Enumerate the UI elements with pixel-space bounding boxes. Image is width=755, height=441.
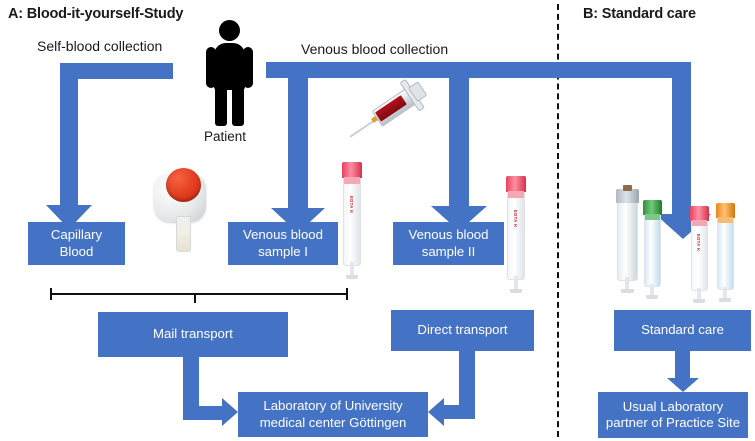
arrow-standard-to-usual-lab-head	[667, 378, 699, 392]
arrow-standard-to-usual-lab-stem	[675, 351, 690, 380]
capillary-collection-device-icon	[148, 166, 218, 252]
box-usual-laboratory-partner-line1: Usual Laboratory	[606, 399, 740, 416]
box-laboratory-umg[interactable]: Laboratory of University medical center …	[238, 392, 428, 437]
patient-icon	[203, 20, 255, 126]
arrow-venous-collection-horizontal	[266, 62, 690, 78]
edta-tube-1-label: EDTA K	[349, 196, 354, 214]
edta-tube-2-label: EDTA K	[513, 210, 518, 228]
box-laboratory-umg-line2: medical center Göttingen	[260, 415, 407, 432]
standard-care-tube-red-icon: EDTA K	[691, 206, 708, 302]
box-mail-transport-label: Mail transport	[153, 326, 233, 343]
box-venous-blood-sample-1[interactable]: Venous blood sample I	[228, 222, 338, 265]
panel-b-title: B: Standard care	[583, 6, 696, 22]
box-capillary-blood-line1: Capillary	[51, 227, 102, 244]
standard-care-tube-green-icon	[644, 200, 661, 300]
arrow-self-collection-stem	[60, 63, 78, 211]
standard-care-tube-grey-icon	[617, 189, 638, 297]
box-laboratory-umg-line1: Laboratory of University	[260, 398, 407, 415]
box-standard-care[interactable]: Standard care	[614, 310, 751, 351]
edta-tube-1-icon: EDTA K	[343, 162, 361, 282]
label-venous-blood-collection: Venous blood collection	[301, 41, 448, 57]
box-mail-transport[interactable]: Mail transport	[98, 312, 288, 357]
label-patient: Patient	[204, 129, 246, 144]
box-standard-care-label: Standard care	[641, 322, 724, 339]
box-usual-laboratory-partner-line2: partner of Practice Site	[606, 415, 740, 432]
box-venous-blood-sample-1-line2: sample I	[243, 244, 323, 261]
standard-care-tube-orange-icon	[717, 203, 734, 301]
arrow-venous-sample-2-stem	[449, 62, 469, 212]
label-self-blood-collection: Self-blood collection	[37, 38, 162, 54]
arrow-standard-care-stem	[672, 62, 691, 220]
arrow-mail-to-lab-horizontal	[183, 406, 223, 420]
figure-canvas: A: Blood-it-yourself-Study B: Standard c…	[0, 0, 755, 441]
box-venous-blood-sample-2-line2: sample II	[409, 244, 489, 261]
box-usual-laboratory-partner[interactable]: Usual Laboratory partner of Practice Sit…	[598, 392, 748, 438]
box-venous-blood-sample-1-line1: Venous blood	[243, 227, 323, 244]
arrow-direct-to-lab-head	[428, 398, 444, 426]
box-direct-transport[interactable]: Direct transport	[391, 310, 534, 351]
box-direct-transport-label: Direct transport	[417, 322, 507, 339]
arrow-venous-sample-1-stem	[288, 62, 308, 214]
arrow-direct-to-lab-horizontal	[444, 405, 475, 419]
box-capillary-blood-line2: Blood	[51, 244, 102, 261]
panel-a-title: A: Blood-it-yourself-Study	[8, 6, 183, 22]
box-venous-blood-sample-2[interactable]: Venous blood sample II	[393, 222, 504, 265]
box-capillary-blood[interactable]: Capillary Blood	[28, 222, 125, 265]
edta-tube-2-icon: EDTA K	[507, 176, 525, 296]
arrow-mail-to-lab-head	[222, 398, 238, 426]
grouping-brace	[50, 288, 348, 302]
standard-care-tube-red-label: EDTA K	[696, 234, 701, 252]
syringe-icon	[334, 66, 437, 161]
box-venous-blood-sample-2-line1: Venous blood	[409, 227, 489, 244]
